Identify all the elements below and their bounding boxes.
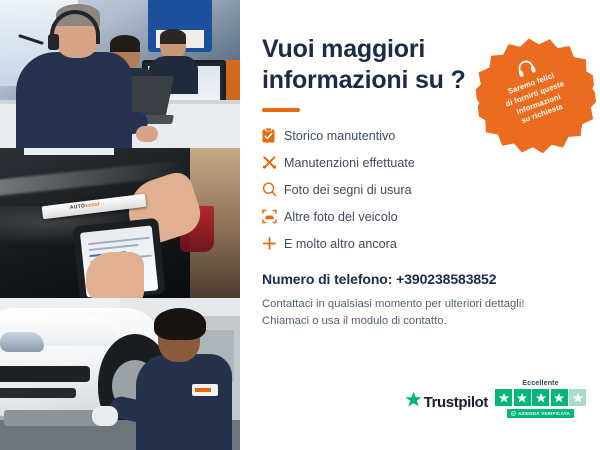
trustpilot-rating[interactable]: Trustpilot Eccellente — [405, 378, 586, 418]
uniform-logo-patch — [192, 384, 218, 396]
plus-icon — [262, 236, 284, 251]
page-title-line1: Vuoi maggiori — [262, 35, 425, 63]
request-info-badge: Saremo felici di fornirti queste informa… — [470, 31, 600, 163]
technician-figure — [136, 308, 232, 450]
trustpilot-star-filled — [495, 389, 512, 406]
vehicle-inspection-photo: AUTOscout — [0, 148, 240, 298]
trustpilot-star-filled — [551, 389, 568, 406]
feature-item-molto-altro[interactable]: E molto altro ancora — [262, 230, 578, 257]
clipboard-check-icon — [262, 128, 284, 143]
verified-label: AZIENDA VERIFICATA — [518, 411, 570, 416]
trustpilot-stars — [495, 389, 586, 406]
lower-grille-shape — [0, 388, 76, 398]
feature-label: Manutenzioni effettuate — [284, 156, 415, 170]
headlight-shape — [0, 332, 44, 352]
feature-label: E molto altro ancora — [284, 237, 397, 251]
phone-number-line[interactable]: Numero di telefono: +390238583852 — [262, 271, 578, 287]
feature-label: Foto dei segni di usura — [284, 183, 412, 197]
contact-subtext: Contattaci in qualsiasi momento per ulte… — [262, 296, 578, 330]
car-frame-icon — [262, 209, 284, 224]
verified-company-badge: AZIENDA VERIFICATA — [507, 409, 574, 418]
page-title: Vuoi maggiori informazioni su ? — [262, 34, 472, 95]
trustpilot-logo: Trustpilot — [405, 391, 488, 418]
tools-wrench-icon — [262, 155, 284, 170]
page-title-line2: informazioni su ? — [262, 66, 466, 94]
phone-number[interactable]: +390238583852 — [396, 271, 496, 287]
technician-hand2-shape — [86, 252, 144, 298]
trustpilot-star-partial — [569, 389, 586, 406]
foreground-agent-1 — [16, 0, 132, 148]
grille-shape — [0, 366, 90, 382]
top-edge-shape — [24, 148, 114, 155]
feature-item-altre-foto-veicolo[interactable]: Altre foto del veicolo — [262, 203, 578, 230]
info-panel: Vuoi maggiori informazioni su ? Storico … — [240, 0, 600, 450]
call-center-photo — [0, 0, 240, 148]
verified-check-icon — [511, 411, 516, 417]
work-glove-shape — [92, 406, 118, 426]
contact-subtext-line1: Contattaci in qualsiasi momento per ulte… — [262, 298, 524, 310]
feature-label: Altre foto del veicolo — [284, 210, 398, 224]
badge-text: Saremo felici di fornirti queste informa… — [484, 63, 589, 136]
feature-item-foto-segni-usura[interactable]: Foto dei segni di usura — [262, 176, 578, 203]
microphone-shape — [18, 34, 44, 45]
magnifier-icon — [262, 182, 284, 197]
photo-strip: AUTOscout — [0, 0, 240, 450]
contact-subtext-line2: Chiamaci o usa il modulo di contatto. — [262, 315, 447, 327]
title-divider — [262, 108, 300, 112]
trustpilot-star-filled — [514, 389, 531, 406]
trustpilot-rating-word: Eccellente — [522, 378, 559, 387]
trustpilot-brand-name: Trustpilot — [424, 394, 488, 411]
wheel-inspection-photo — [0, 298, 240, 450]
car-lift-shape — [4, 410, 100, 426]
phone-label: Numero di telefono: — [262, 271, 392, 287]
trustpilot-star-icon — [405, 391, 422, 413]
trustpilot-score-block: Eccellente — [495, 378, 586, 418]
trustpilot-star-filled — [532, 389, 549, 406]
feature-label: Storico manutentivo — [284, 129, 395, 143]
